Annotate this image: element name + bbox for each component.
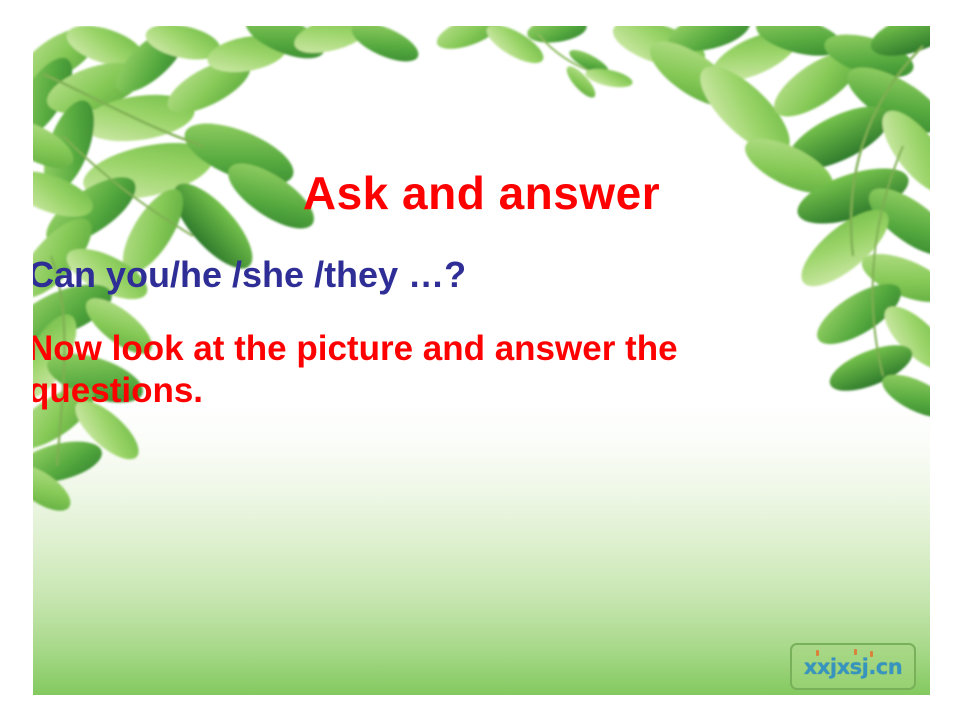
page-title: Ask and answer (33, 166, 930, 220)
instruction-text: Now look at the picture and answer the q… (33, 328, 858, 412)
watermark-label: xxjxsj.cn (804, 655, 902, 679)
screenshot-stage: Ask and answer Can you/he /she /they …? … (0, 0, 960, 720)
presentation-slide: Ask and answer Can you/he /she /they …? … (33, 26, 930, 695)
prompt-line: Can you/he /she /they …? (33, 254, 466, 296)
site-watermark: xxjxsj.cn (790, 643, 916, 690)
